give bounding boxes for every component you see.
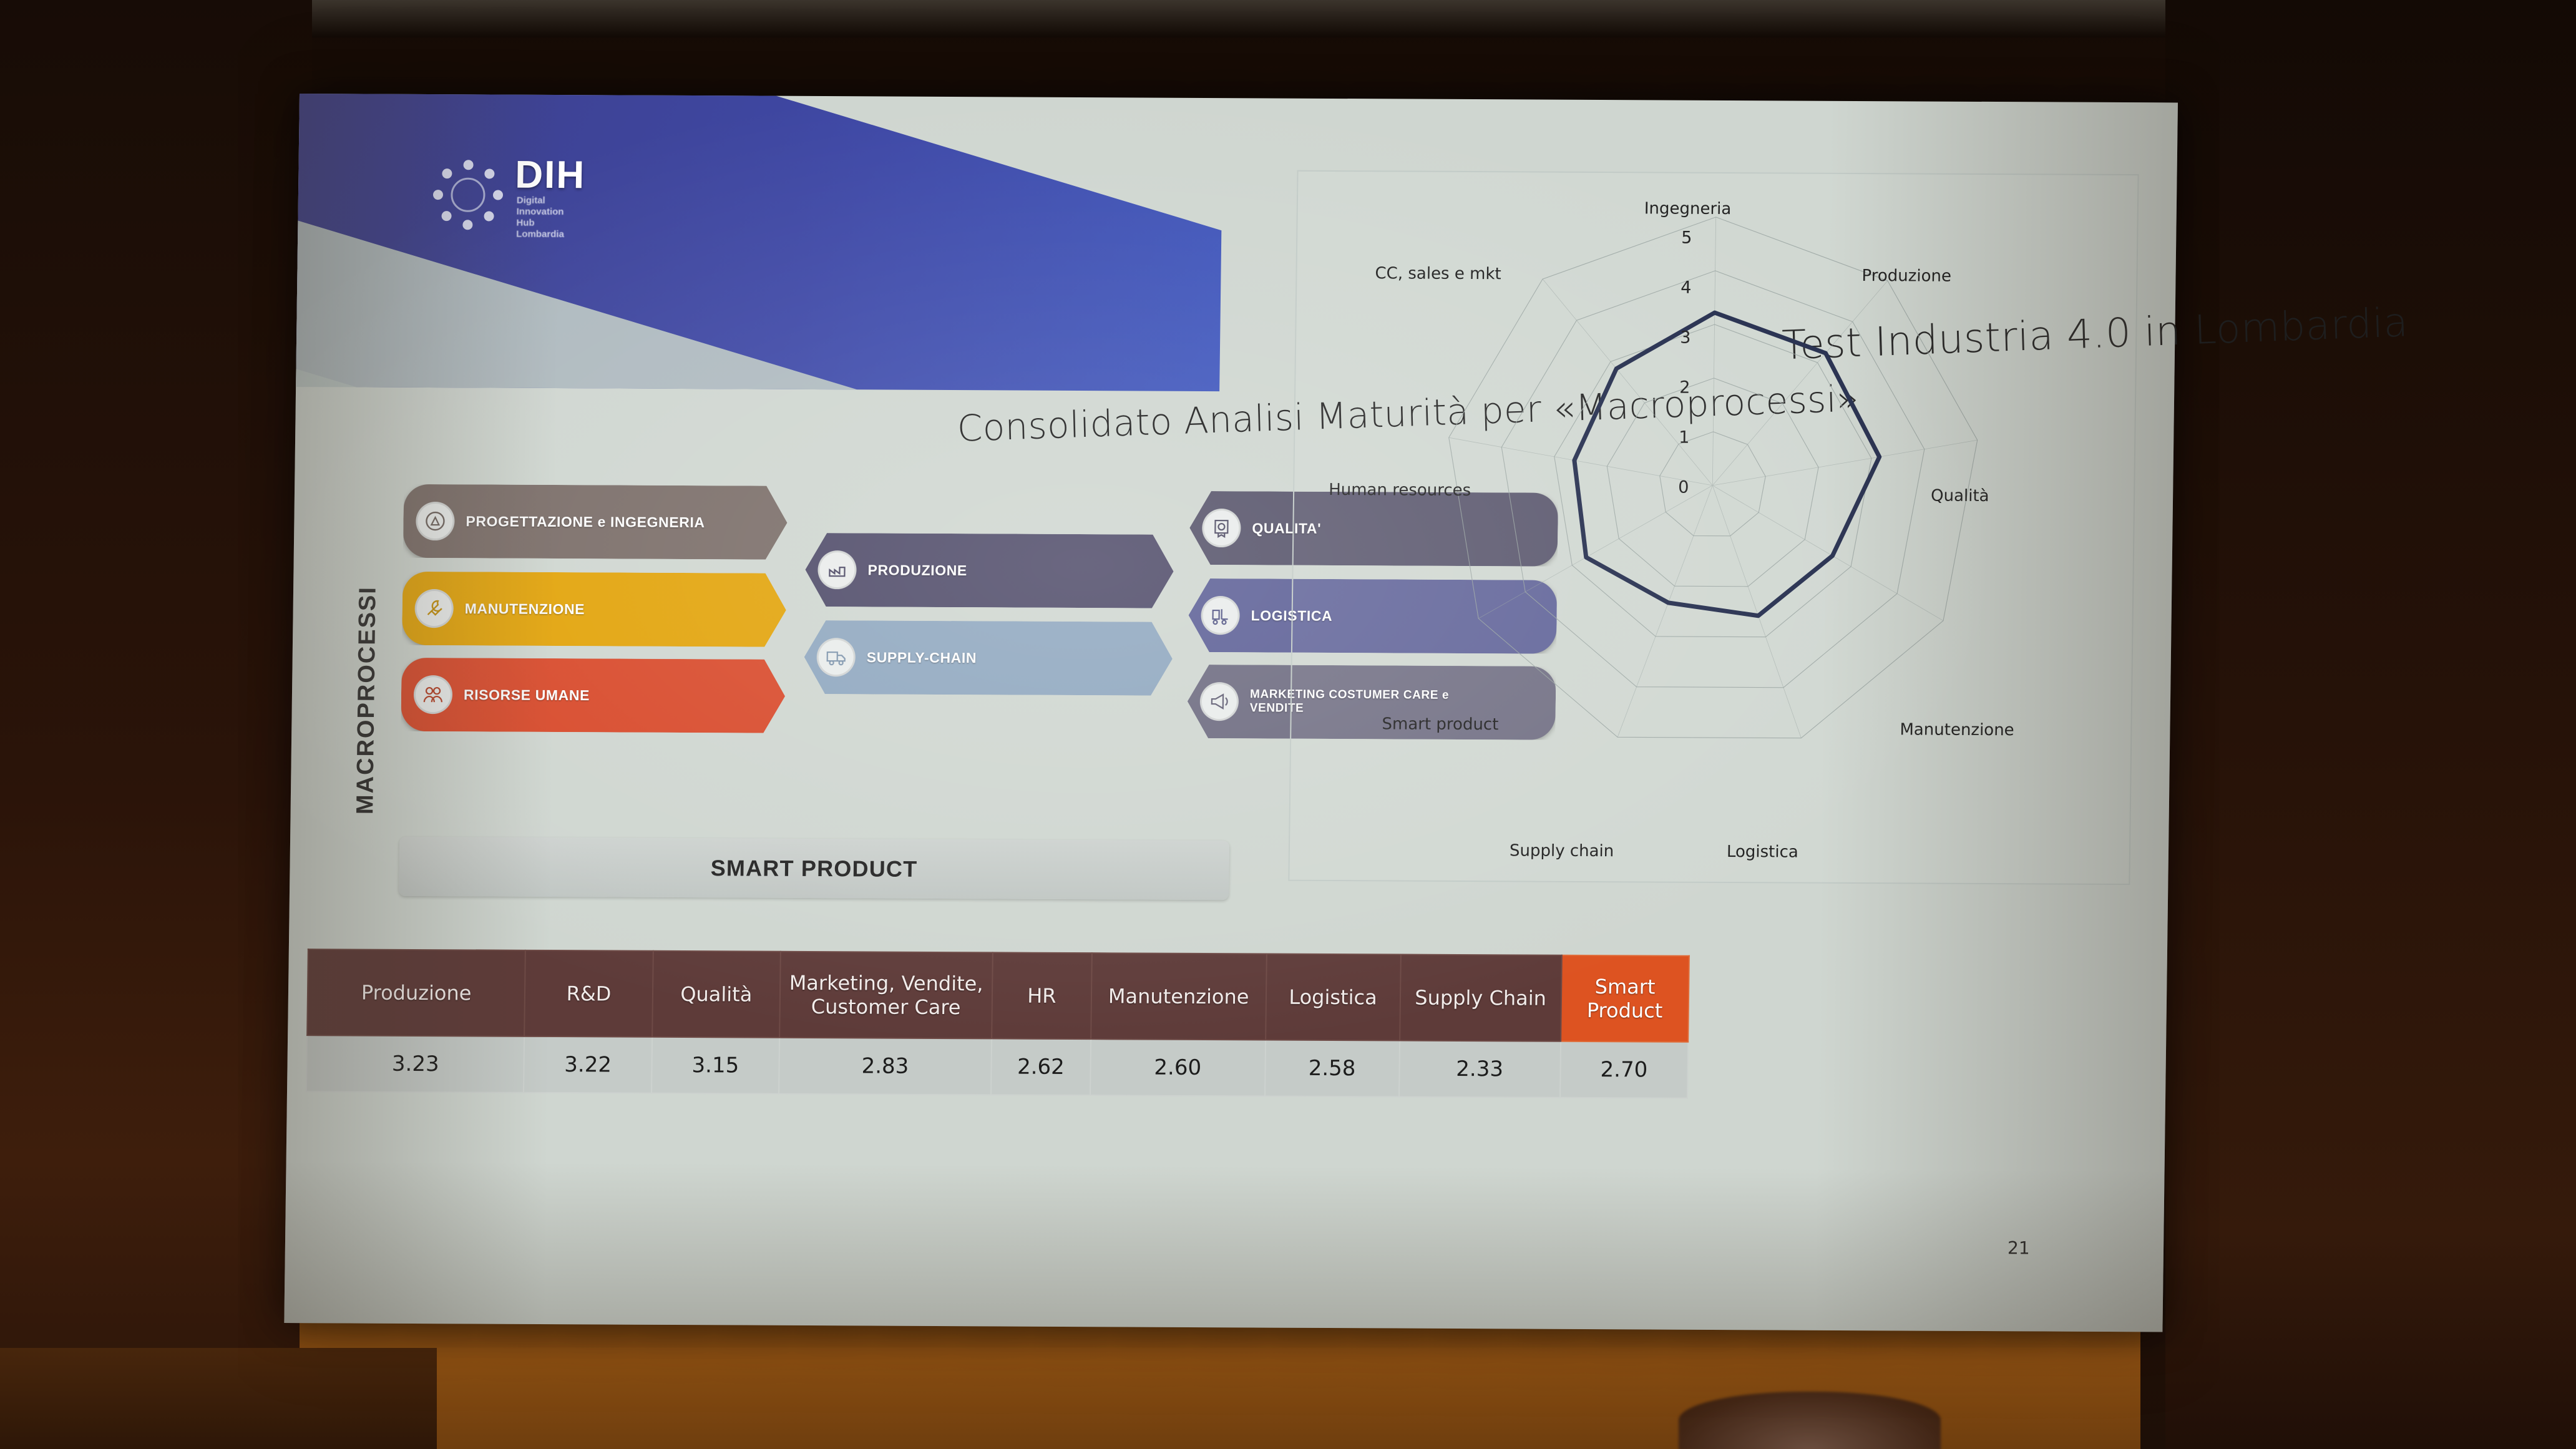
table-cell: 3.23 [306, 1035, 525, 1093]
logo-line-1: Digital [517, 195, 565, 207]
page-number: 21 [2008, 1237, 2030, 1258]
table-header-cell: Manutenzione [1091, 953, 1266, 1040]
block-supply-chain[interactable]: SUPPLY-CHAIN [804, 620, 1173, 696]
logo-line-3: Hub [516, 218, 564, 229]
table-cell: 2.83 [779, 1038, 992, 1095]
radar-axis-label-logistica: Logistica [1727, 842, 1798, 862]
table-cell: 3.15 [651, 1037, 779, 1094]
block-produzione[interactable]: PRODUZIONE [805, 533, 1174, 608]
radar-tick-4: 4 [1681, 278, 1692, 298]
block-label: RISORSE UMANE [464, 686, 590, 703]
smart-product-bar: SMART PRODUCT [399, 837, 1229, 900]
table-header-cell: Produzione [307, 949, 525, 1037]
block-label: MANUTENZIONE [465, 600, 585, 617]
factory-icon [817, 550, 857, 589]
people-icon [414, 675, 453, 714]
table-header-cell: Marketing, Vendite, Customer Care [779, 952, 993, 1039]
logo-wordmark: DIH [515, 153, 586, 198]
table-cell: 2.70 [1560, 1042, 1689, 1098]
table-header-cell: R&D [525, 950, 653, 1037]
block-label: PROGETTAZIONE e INGEGNERIA [466, 513, 705, 530]
radar-axis-label-smart-product: Smart product [1382, 715, 1498, 734]
logo-line-4: Lombardia [516, 229, 564, 240]
radar-axis-label-supply-chain: Supply chain [1510, 841, 1614, 861]
radar-axis-label-manutenzione: Manutenzione [1900, 720, 2014, 739]
logo-subtitle: Digital Innovation Hub Lombardia [516, 195, 565, 240]
radar-axis-label-human-resources: Human resources [1329, 481, 1471, 500]
block-progettazione-ingegneria[interactable]: PROGETTAZIONE e INGEGNERIA [403, 484, 788, 560]
block-risorse-umane[interactable]: RISORSE UMANE [401, 658, 785, 733]
logo-ring-icon [430, 157, 506, 233]
macroprocessi-side-label: MACROPROCESSI [351, 557, 382, 844]
wall-left [0, 0, 312, 1449]
table-header-cell: Supply Chain [1400, 955, 1562, 1042]
block-manutenzione[interactable]: MANUTENZIONE [402, 572, 786, 647]
radar-chart-panel: Ingegneria Produzione Qualità Manutenzio… [1288, 170, 2139, 885]
radar-axis-label-ingegneria: Ingegneria [1644, 199, 1732, 218]
table-header-row: Produzione R&D Qualità Marketing, Vendit… [307, 949, 1689, 1042]
radar-tick-5: 5 [1681, 228, 1692, 248]
radar-tick-3: 3 [1680, 328, 1691, 348]
room-photo-background: DIH Digital Innovation Hub Lombardia Tes… [0, 0, 2576, 1449]
radar-tick-0: 0 [1678, 478, 1689, 497]
radar-axis-label-produzione: Produzione [1861, 266, 1951, 286]
block-label: PRODUZIONE [867, 562, 967, 578]
projection-slide: DIH Digital Innovation Hub Lombardia Tes… [284, 94, 2178, 1332]
table-cell: 2.33 [1399, 1041, 1561, 1098]
foreground-silhouette [1679, 1392, 1941, 1449]
radar-tick-1: 1 [1679, 428, 1690, 447]
wrench-icon [414, 589, 454, 628]
radar-tick-2: 2 [1679, 378, 1690, 398]
maturity-table: Produzione R&D Qualità Marketing, Vendit… [306, 949, 1690, 1099]
megaphone-icon [1200, 682, 1239, 721]
floor-dark [0, 1348, 437, 1449]
table-header-cell-highlight: Smart Product [1561, 955, 1689, 1042]
table-header-cell: Qualità [652, 951, 781, 1038]
dih-logo: DIH Digital Innovation Hub Lombardia [430, 147, 681, 251]
table-header-cell: HR [992, 952, 1092, 1039]
truck-icon [816, 638, 856, 676]
projector-shade-bottom [284, 1161, 2164, 1332]
table-cell: 2.58 [1265, 1040, 1400, 1097]
forklift-icon [1201, 596, 1240, 635]
certificate-icon [1202, 509, 1241, 547]
table-row: 3.23 3.22 3.15 2.83 2.62 2.60 2.58 2.33 … [306, 1035, 1688, 1098]
table-cell: 3.22 [524, 1037, 651, 1093]
radar-axis-label-cc-sales-mkt: CC, sales e mkt [1375, 264, 1501, 283]
block-label: SUPPLY-CHAIN [867, 649, 977, 666]
compass-icon [416, 502, 455, 540]
table-cell: 2.60 [1090, 1039, 1266, 1096]
wall-right [2165, 0, 2576, 1449]
logo-line-2: Innovation [517, 207, 565, 218]
table-cell: 2.62 [991, 1038, 1091, 1095]
radar-axis-label-qualita: Qualità [1931, 487, 1989, 505]
table-header-cell: Logistica [1266, 954, 1401, 1041]
